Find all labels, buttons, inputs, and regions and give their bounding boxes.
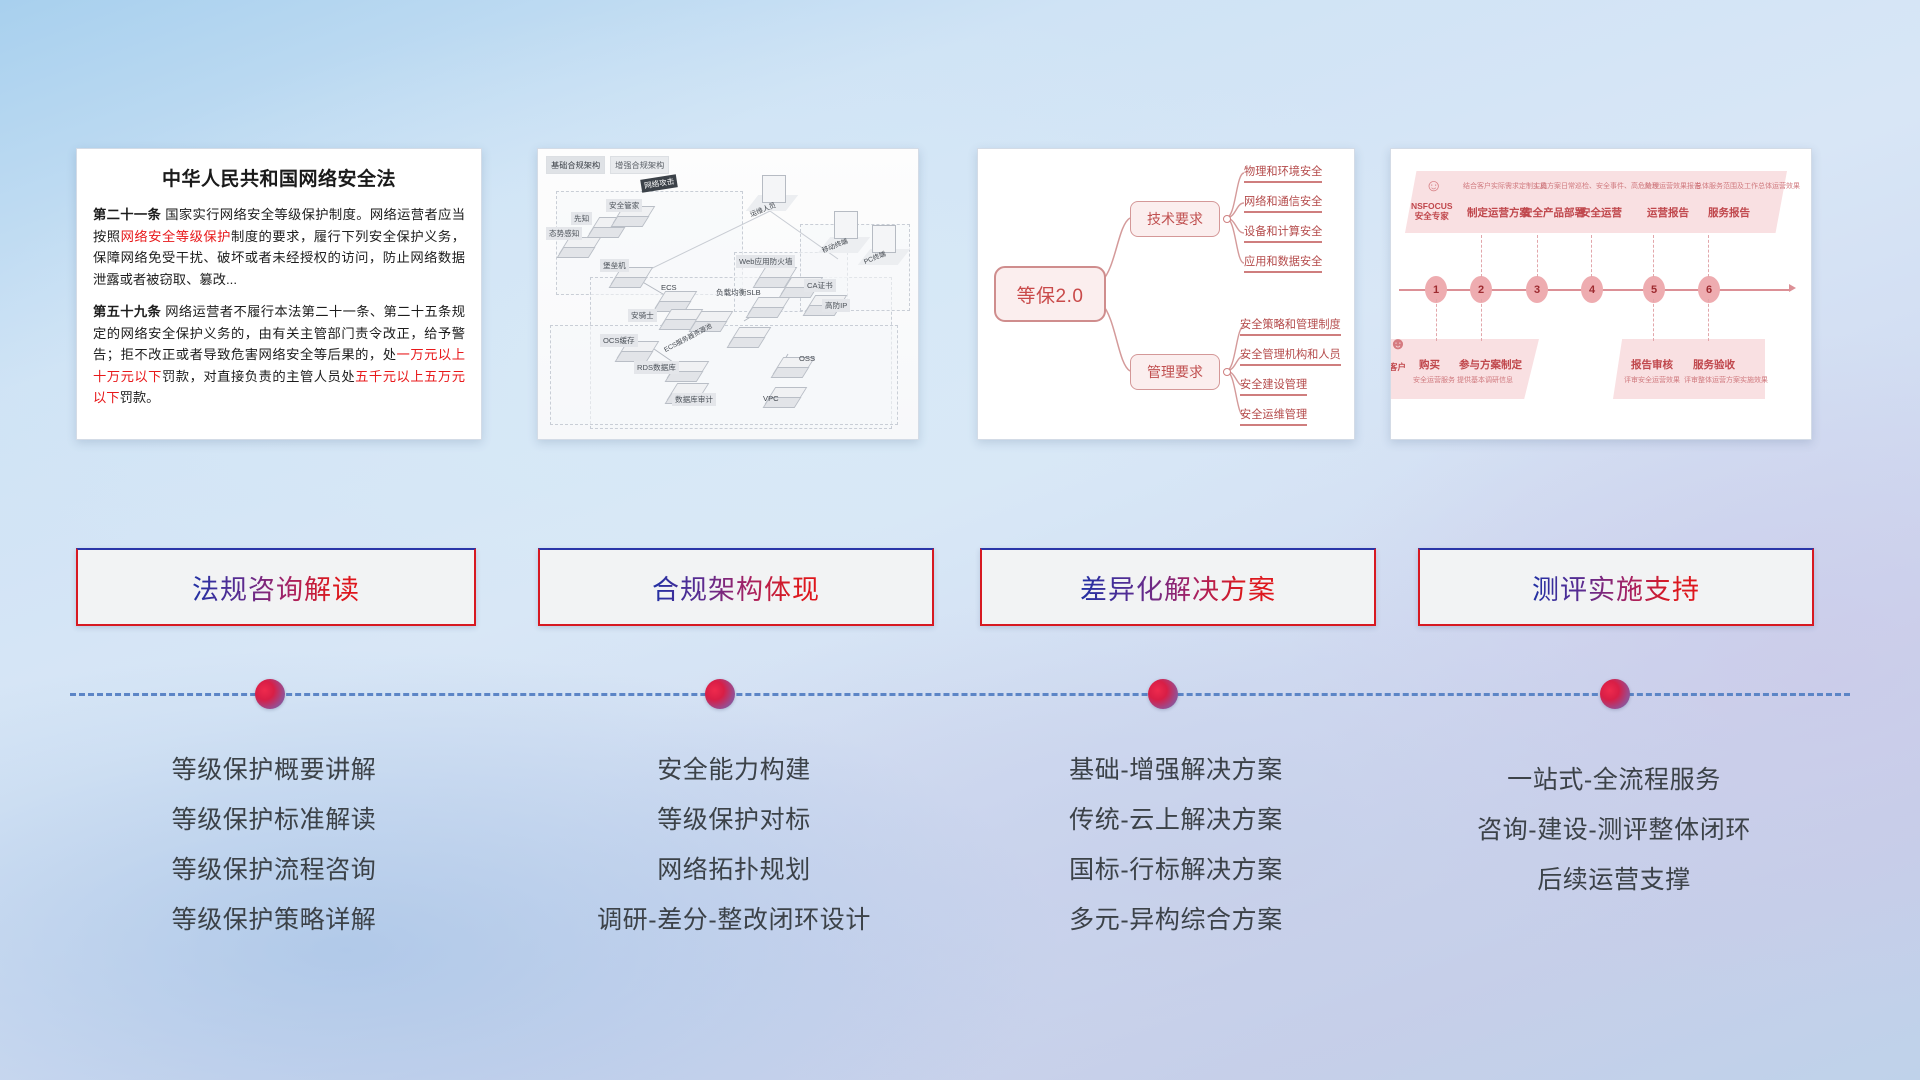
label-ca-cert: CA证书 <box>804 279 836 292</box>
timeline-node[interactable]: 6 <box>1698 276 1720 303</box>
timeline-marker-dot-3[interactable] <box>1148 679 1178 709</box>
law-paragraph-59: 第五十九条 网络运营者不履行本法第二十一条、第二十五条规定的网络安全保护义务的，… <box>93 301 465 409</box>
column-title-box-3[interactable]: 差异化解决方案 <box>980 548 1376 626</box>
mindmap-leaf: 安全管理机构和人员 <box>1240 346 1341 366</box>
law-paragraph-21: 第二十一条 国家实行网络安全等级保护制度。网络运营者应当按照网络安全等级保护制度… <box>93 204 465 290</box>
list-item: 多元-异构综合方案 <box>980 895 1372 945</box>
timeline-connector <box>1708 235 1709 277</box>
step-label: 运营报告 <box>1647 205 1689 220</box>
cloud-architecture-diagram: 基础合规架构 增强合规架构 网络攻击 态势感知 <box>538 149 918 439</box>
mindmap-leaf: 物理和环境安全 <box>1244 163 1322 183</box>
step-label: 服务验收 <box>1693 357 1735 372</box>
customer-person-icon: ☻ <box>1390 335 1407 352</box>
timeline-connector <box>1436 299 1437 341</box>
node-slb <box>753 297 783 319</box>
list-item: 安全能力构建 <box>538 745 930 795</box>
slide-canvas: 中华人民共和国网络安全法 第二十一条 国家实行网络安全等级保护制度。网络运营者应… <box>0 0 1920 1080</box>
law-article-number: 第五十九条 <box>93 304 161 319</box>
label-xianzhi: 先知 <box>571 212 592 225</box>
timeline-connector <box>1653 299 1654 341</box>
timeline-connector <box>1537 235 1538 277</box>
list-item: 等级保护标准解读 <box>76 795 472 845</box>
column-list-4: 一站式-全流程服务 咨询-建设-测评整体闭环 后续运营支撑 <box>1418 755 1810 905</box>
label-situational-awareness: 态势感知 <box>546 227 582 240</box>
timeline-connector <box>1481 299 1482 341</box>
law-text-seg: 罚款，对直接负责的主管人员处 <box>162 369 355 384</box>
timeline-node[interactable]: 4 <box>1581 276 1603 303</box>
list-item: 网络拓扑规划 <box>538 845 930 895</box>
mindmap-leaf: 网络和通信安全 <box>1244 193 1322 213</box>
label-rds: RDS数据库 <box>634 361 679 374</box>
label-agent: 安骑士 <box>628 309 657 322</box>
mindmap-leaf: 设备和计算安全 <box>1244 223 1322 243</box>
step-label: 参与方案制定 <box>1459 357 1522 372</box>
thumbnail-card-mindmap[interactable]: 等保2.0 技术要求 物理和环境安全 网络和通信安全 设备和计算安全 应用和数据… <box>977 148 1355 440</box>
list-item: 等级保护策略详解 <box>76 895 472 945</box>
label-oss: OSS <box>796 353 818 364</box>
timeline-marker-dot-4[interactable] <box>1600 679 1630 709</box>
column-title-label: 差异化解决方案 <box>1080 568 1276 607</box>
thumbnail-card-nsfocus-timeline[interactable]: ☺ NSFOCUS安全专家 结合客户实际需求定制工具 制定运营方案 实施方案 安… <box>1390 148 1812 440</box>
thumbnail-card-law[interactable]: 中华人民共和国网络安全法 第二十一条 国家实行网络安全等级保护制度。网络运营者应… <box>76 148 482 440</box>
column-title-box-1[interactable]: 法规咨询解读 <box>76 548 476 626</box>
list-item: 传统-云上解决方案 <box>980 795 1372 845</box>
list-item: 一站式-全流程服务 <box>1418 755 1810 805</box>
timeline-connector <box>1708 299 1709 341</box>
step-caption: 安全运营服务 <box>1413 375 1455 385</box>
list-item: 等级保护流程咨询 <box>76 845 472 895</box>
step-caption: 总体服务范围及工作总体运营效果 <box>1695 181 1800 191</box>
step-label: 服务报告 <box>1708 205 1750 220</box>
timeline-connector <box>1481 235 1482 277</box>
timeline-marker-dot-1[interactable] <box>255 679 285 709</box>
vendor-person-icon: ☺ <box>1425 177 1442 194</box>
column-list-2: 安全能力构建 等级保护对标 网络拓扑规划 调研-差分-整改闭环设计 <box>538 745 930 945</box>
label-anti-ddos: 高防IP <box>822 299 850 312</box>
step-label: 安全产品部署 <box>1522 205 1585 220</box>
timeline-connector <box>1653 235 1654 277</box>
column-list-1: 等级保护概要讲解 等级保护标准解读 等级保护流程咨询 等级保护策略详解 <box>76 745 472 945</box>
column-title-label: 法规咨询解读 <box>192 568 360 607</box>
list-item: 咨询-建设-测评整体闭环 <box>1418 805 1810 855</box>
nsfocus-service-timeline: ☺ NSFOCUS安全专家 结合客户实际需求定制工具 制定运营方案 实施方案 安… <box>1391 149 1811 439</box>
step-label: 制定运营方案 <box>1467 205 1530 220</box>
mindmap-branch-management: 管理要求 <box>1130 354 1220 390</box>
column-title-box-2[interactable]: 合规架构体现 <box>538 548 934 626</box>
timeline-marker-dot-2[interactable] <box>705 679 735 709</box>
mindmap-collapse-dot-management[interactable] <box>1223 368 1231 376</box>
timeline-connector <box>1591 235 1592 277</box>
column-title-label: 合规架构体现 <box>652 568 820 607</box>
mindmap-collapse-dot-technical[interactable] <box>1223 215 1231 223</box>
vendor-role-label: NSFOCUS安全专家 <box>1411 201 1453 221</box>
mindmap-leaf: 安全策略和管理制度 <box>1240 316 1341 336</box>
step-caption: 提供基本调研信息 <box>1457 375 1513 385</box>
label-slb: 负载均衡SLB <box>713 286 764 299</box>
thumbnail-card-architecture[interactable]: 基础合规架构 增强合规架构 网络攻击 态势感知 <box>537 148 919 440</box>
list-item: 国标-行标解决方案 <box>980 845 1372 895</box>
mindmap-diagram: 等保2.0 技术要求 物理和环境安全 网络和通信安全 设备和计算安全 应用和数据… <box>978 149 1354 439</box>
column-list-3: 基础-增强解决方案 传统-云上解决方案 国标-行标解决方案 多元-异构综合方案 <box>980 745 1372 945</box>
step-label: 报告审核 <box>1631 357 1673 372</box>
step-caption: 评审整体运营方案实施效果 <box>1684 375 1768 385</box>
timeline-arrow-icon <box>1789 284 1796 292</box>
node-situational-awareness <box>564 237 594 259</box>
step-caption: 评审安全运营效果 <box>1624 375 1680 385</box>
label-security-housekeeper: 安全管家 <box>606 199 642 212</box>
dashed-timeline <box>70 693 1850 696</box>
label-db-audit: 数据库审计 <box>672 393 716 406</box>
mindmap-leaf: 安全运维管理 <box>1240 406 1307 426</box>
column-title-label: 测评实施支持 <box>1532 568 1700 607</box>
mindmap-root: 等保2.0 <box>994 266 1106 322</box>
timeline-node[interactable]: 5 <box>1643 276 1665 303</box>
law-title: 中华人民共和国网络安全法 <box>93 164 465 191</box>
mindmap-leaf: 安全建设管理 <box>1240 376 1307 396</box>
timeline-node[interactable]: 3 <box>1526 276 1548 303</box>
list-item: 等级保护概要讲解 <box>76 745 472 795</box>
label-waf: Web应用防火墙 <box>736 255 795 268</box>
list-item: 调研-差分-整改闭环设计 <box>538 895 930 945</box>
list-item: 等级保护对标 <box>538 795 930 845</box>
step-label: 安全运营 <box>1580 205 1622 220</box>
law-text-highlight: 网络安全等级保护 <box>121 229 231 244</box>
customer-role-label: 客户 <box>1390 361 1406 373</box>
law-article-number: 第二十一条 <box>93 207 161 222</box>
label-ocs-cache: OCS缓存 <box>600 334 638 347</box>
label-vpc: VPC <box>760 393 782 404</box>
step-caption: 实施方案 <box>1533 181 1561 191</box>
law-document: 中华人民共和国网络安全法 第二十一条 国家实行网络安全等级保护制度。网络运营者应… <box>77 149 481 419</box>
mindmap-leaf: 应用和数据安全 <box>1244 253 1322 273</box>
step-label: 购买 <box>1419 357 1440 372</box>
list-item: 后续运营支撑 <box>1418 855 1810 905</box>
list-item: 基础-增强解决方案 <box>980 745 1372 795</box>
law-text-seg: 罚款。 <box>120 390 160 405</box>
node-ecs-3 <box>734 327 764 349</box>
column-title-box-4[interactable]: 测评实施支持 <box>1418 548 1814 626</box>
label-ecs: ECS <box>658 282 680 293</box>
step-caption: 阶段运营效果报告 <box>1645 181 1701 191</box>
mindmap-branch-technical: 技术要求 <box>1130 201 1220 237</box>
label-bastion-host: 堡垒机 <box>600 259 629 272</box>
